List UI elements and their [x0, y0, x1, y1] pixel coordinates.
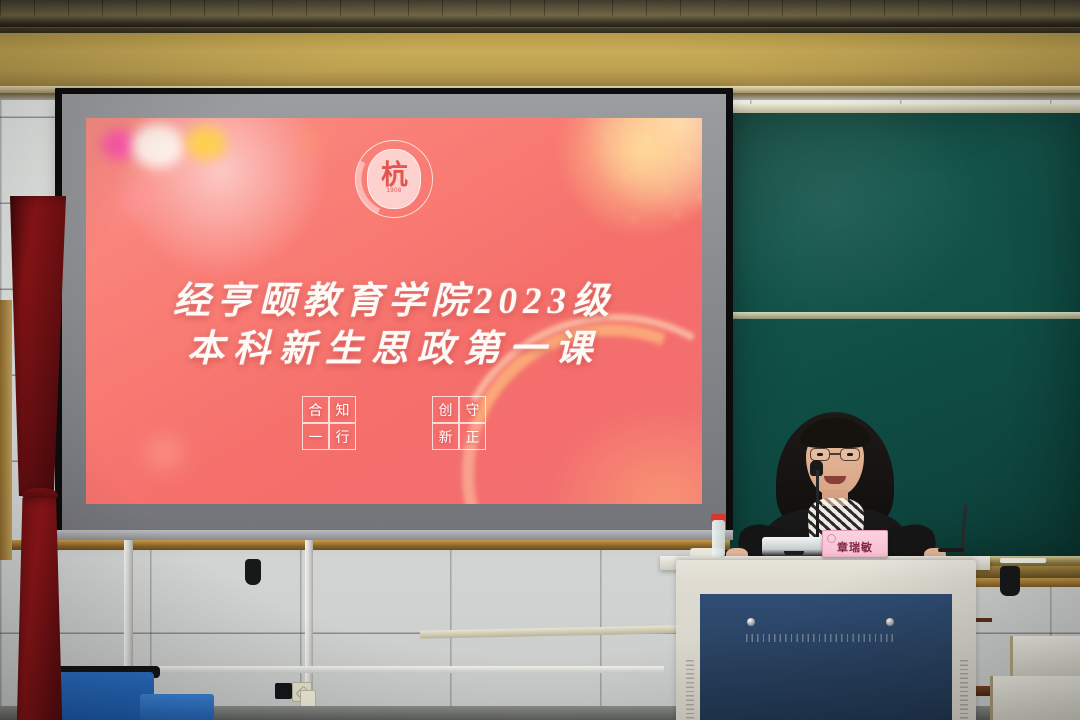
chalk-stick: [1000, 558, 1046, 563]
red-curtain: [4, 196, 68, 720]
name-card-logo-icon: [827, 534, 836, 543]
name-card-text: 章瑞敏: [837, 539, 873, 555]
motto-cell: 一: [302, 423, 329, 450]
ceiling-pipe: [0, 16, 1080, 27]
curtain-upper-panel: [10, 196, 66, 496]
chalkboard-top-rail: [722, 104, 1080, 113]
university-seal-logo: 杭 1908: [355, 140, 433, 218]
motto-cell: 合: [302, 396, 329, 423]
motto-grid-shouzheng: 创 守 新 正: [432, 396, 486, 450]
recycling-bin-secondary: [140, 694, 214, 720]
podium-front-panel: [700, 594, 952, 720]
motto-cell: 创: [432, 396, 459, 423]
wall-junction-box: [275, 683, 292, 699]
sparkle-confetti-icon: [482, 118, 702, 284]
motto-cell: 守: [459, 396, 486, 423]
podium-screw: [886, 618, 894, 626]
leaning-panel: [990, 676, 1080, 720]
chalkboard-mid-rail: [728, 312, 1080, 319]
bokeh-light-icon: [186, 126, 226, 160]
podium-screw: [747, 618, 755, 626]
seal-arc-text: [355, 140, 433, 218]
podium-vent: [686, 660, 694, 720]
ceiling-soffit: [0, 33, 1080, 93]
eyeglass-bridge: [830, 453, 840, 455]
podium-vent: [960, 660, 968, 720]
bokeh-light-icon: [132, 124, 184, 168]
speaker-eye: [817, 453, 823, 456]
bokeh-light-icon: [116, 184, 156, 218]
projected-slide: 杭 1908 经亨颐教育学院2023级 本科新生思政第一课 合 知 一 行 创 …: [86, 118, 702, 504]
projector-screen-bottom-bar: [55, 530, 733, 540]
lecture-hall-scene: 杭 1908 经亨颐教育学院2023级 本科新生思政第一课 合 知 一 行 创 …: [0, 0, 1080, 720]
podium-perforation-strip: [746, 634, 896, 642]
power-outlet[interactable]: [300, 690, 316, 707]
motto-cell: 正: [459, 423, 486, 450]
slide-title-line2: 本科新生思政第一课: [86, 326, 702, 374]
motto-grid-zhixing: 合 知 一 行: [302, 396, 356, 450]
speaker-name-card: 章瑞敏: [822, 530, 888, 558]
slide-motto-row: 合 知 一 行 创 守 新 正: [86, 396, 702, 450]
pen: [938, 548, 964, 552]
wall-speaker-icon: [245, 559, 261, 585]
wall-speaker-icon: [1000, 566, 1020, 596]
motto-cell: 行: [329, 423, 356, 450]
motto-cell: 新: [432, 423, 459, 450]
slide-title: 经亨颐教育学院2023级 本科新生思政第一课: [86, 278, 702, 374]
speaker-eye: [847, 453, 853, 456]
laptop-hinge: [784, 551, 804, 555]
motto-cell: 知: [329, 396, 356, 423]
slide-title-line1: 经亨颐教育学院2023级: [86, 278, 702, 326]
bokeh-light-icon: [296, 128, 326, 154]
curtain-lower-panel: [12, 498, 70, 720]
wall-wood-rail: [0, 540, 730, 550]
wall-pipe-horizontal: [124, 666, 664, 673]
bokeh-light-icon: [102, 130, 136, 160]
water-bottle: [712, 520, 725, 558]
